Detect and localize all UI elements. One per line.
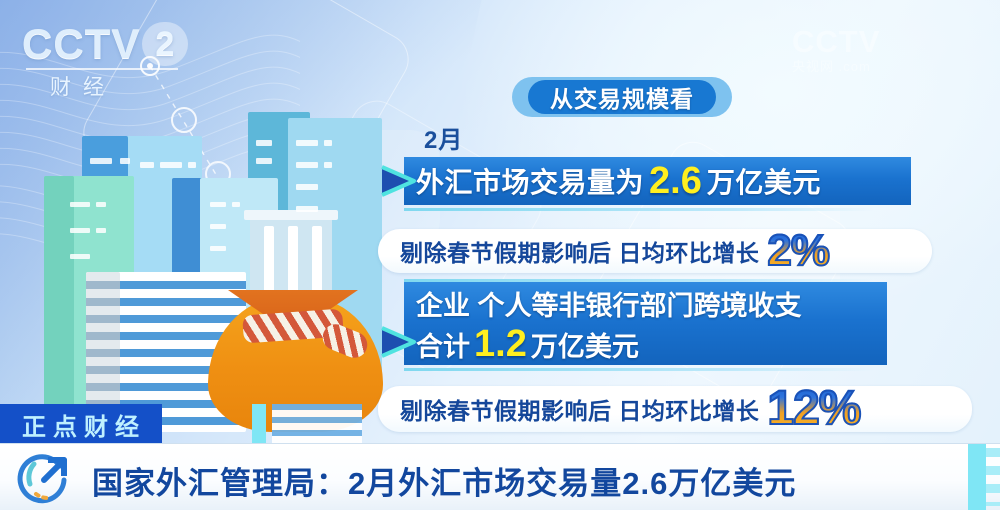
banner-cyan-stripes [986,448,1000,506]
broadcast-screen: CCTV2 财经 CCTV 央视网 .com [0,0,1000,510]
stat-pill-text: 剔除春节假期影响后 日均环比增长 [400,234,759,268]
bar-underline-3 [404,368,874,371]
stat-bar-text-pre: 合计 [416,325,470,364]
section-header-label: 从交易规模看 [550,80,694,114]
program-badge-label: 正点财经 [22,407,146,442]
triangle-arrow-marker [378,164,420,198]
stat-pill-text: 剔除春节假期影响后 日均环比增长 [400,392,759,426]
section-header-pill: 从交易规模看 [512,77,732,117]
circular-arrow-logo [14,446,76,506]
stat-bar-text-post: 万亿美元 [707,161,821,201]
lower-third-banner: 国家外汇管理局：2月外汇市场交易量2.6万亿美元 [0,443,1000,510]
stat-bar-crossborder: 企业 个人等非银行部门跨境收支 合计 1.2 万亿美元 [404,282,887,365]
stat-bar-line-1: 企业 个人等非银行部门跨境收支 [416,284,875,323]
stat-bar-text-pre: 外汇市场交易量为 [416,161,644,201]
banner-stripes-decoration [272,404,362,444]
infographic-content: 从交易规模看 2月 外汇市场交易量为 2.6 万亿美元 剔除春节假期影响后 日均… [0,0,1000,440]
stat-bar-value: 1.2 [470,325,531,363]
stat-bar-value: 2.6 [644,162,707,200]
stat-pill-growth-2: 剔除春节假期影响后 日均环比增长 2% [378,229,932,273]
section-header-inner: 从交易规模看 [528,80,716,114]
triangle-arrow-marker [378,325,420,359]
stat-pill-growth-12: 剔除春节假期影响后 日均环比增长 12% [378,386,972,432]
stat-pill-percent: 12% [767,385,860,433]
banner-badge-cap [252,404,266,444]
headline-text: 国家外汇管理局：2月外汇市场交易量2.6万亿美元 [92,458,796,503]
stat-bar-text-line1: 企业 个人等非银行部门跨境收支 [416,284,802,323]
stat-bar-text-post: 万亿美元 [531,325,639,364]
stat-bar-transaction-volume: 外汇市场交易量为 2.6 万亿美元 [404,157,911,205]
banner-cyan-cap [968,444,986,510]
stat-pill-percent: 2% [767,229,829,273]
stat-bar-line-2: 合计 1.2 万亿美元 [416,325,875,364]
month-label: 2月 [424,120,463,155]
program-badge: 正点财经 [0,404,162,444]
bar-underline-1 [404,208,874,211]
